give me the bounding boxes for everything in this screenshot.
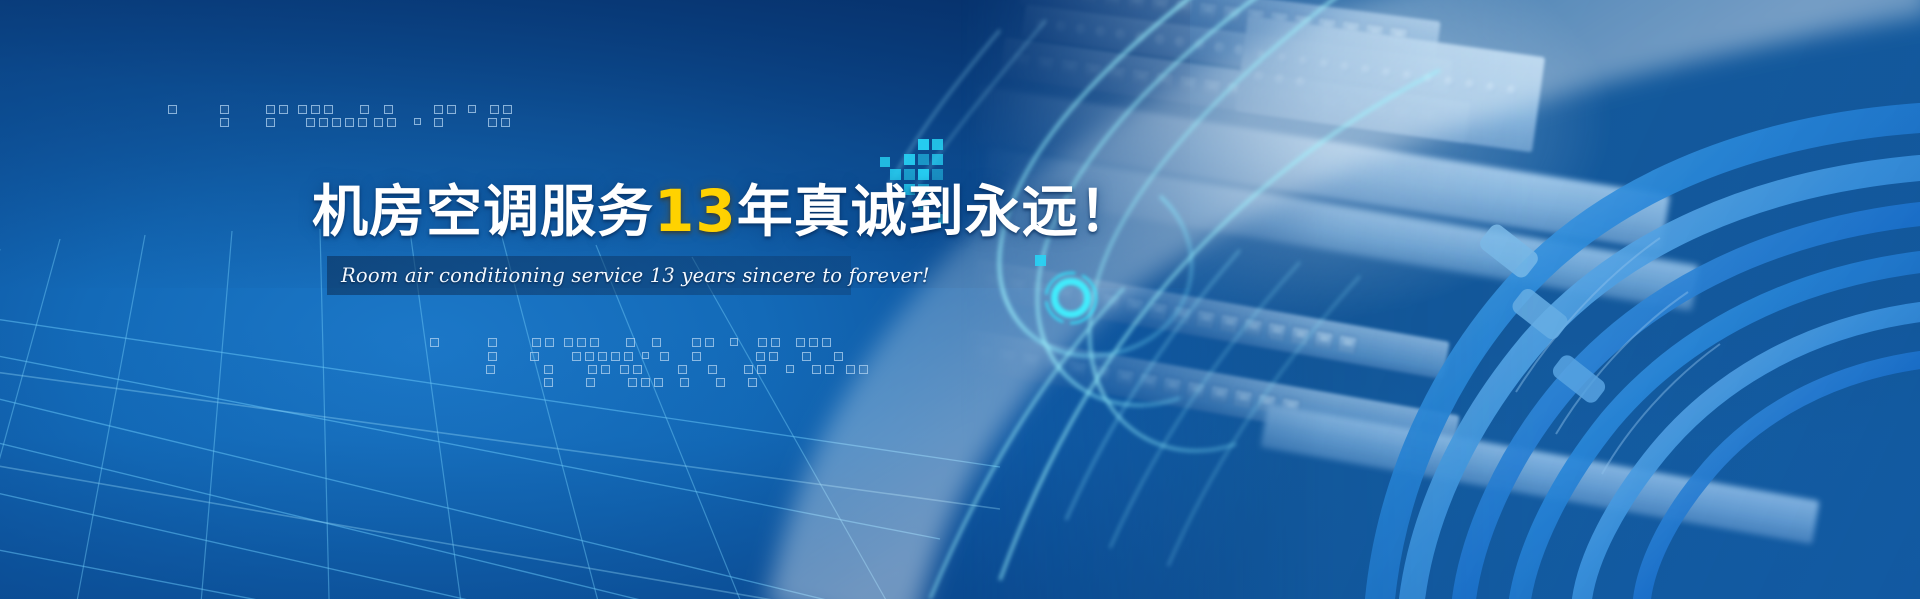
headline-suffix: 年真诚到永远！: [737, 180, 1136, 245]
promo-banner: 机房空调服务13年真诚到永远！ Room air conditioning se…: [0, 0, 1920, 599]
pixel-pattern-bottom-second: [486, 365, 916, 395]
subtitle-text: Room air conditioning service 13 years s…: [341, 259, 841, 292]
headline-prefix: 机房空调服务: [312, 180, 654, 245]
glow-ring-icon: [1040, 267, 1102, 329]
light-arcs: [0, 0, 1920, 599]
page-title: 机房空调服务13年真诚到永远！: [312, 167, 1136, 248]
pixel-accent: [1035, 255, 1046, 266]
headline-highlight-number: 13: [654, 177, 737, 245]
pixel-pattern-top: [168, 103, 588, 137]
